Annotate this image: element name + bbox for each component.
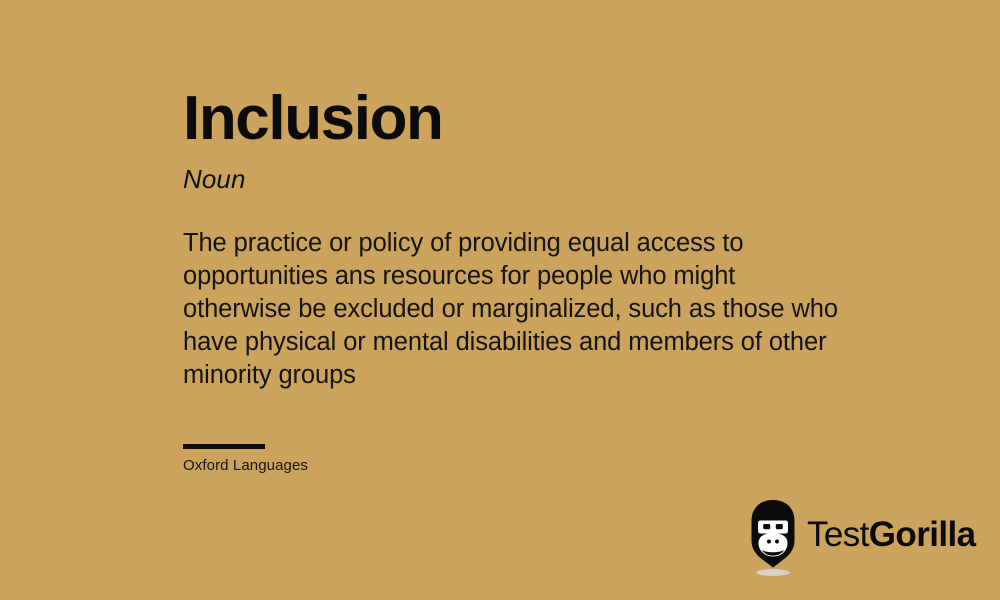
attribution-block: Oxford Languages: [183, 444, 308, 474]
attribution-divider: [183, 444, 265, 449]
definition-line: minority groups: [183, 359, 863, 392]
definition-card: Inclusion Noun The practice or policy of…: [0, 0, 1000, 600]
definition-line: otherwise be excluded or marginalized, s…: [183, 293, 863, 326]
definition-line: The practice or policy of providing equa…: [183, 227, 863, 260]
definition-line: opportunities ans resources for people w…: [183, 260, 863, 293]
attribution-source: Oxford Languages: [183, 457, 308, 474]
testgorilla-logo: TestGorilla: [748, 500, 975, 578]
definition-text: The practice or policy of providing equa…: [183, 227, 863, 392]
gorilla-pin-icon: [748, 500, 798, 578]
definition-block: Inclusion Noun The practice or policy of…: [183, 88, 883, 392]
definition-line: have physical or mental disabilities and…: [183, 326, 863, 359]
term-title: Inclusion: [183, 88, 883, 150]
logo-word-gorilla: Gorilla: [869, 515, 976, 554]
testgorilla-wordmark: TestGorilla: [807, 517, 975, 552]
logo-word-test: Test: [807, 515, 869, 554]
part-of-speech-label: Noun: [183, 164, 883, 195]
